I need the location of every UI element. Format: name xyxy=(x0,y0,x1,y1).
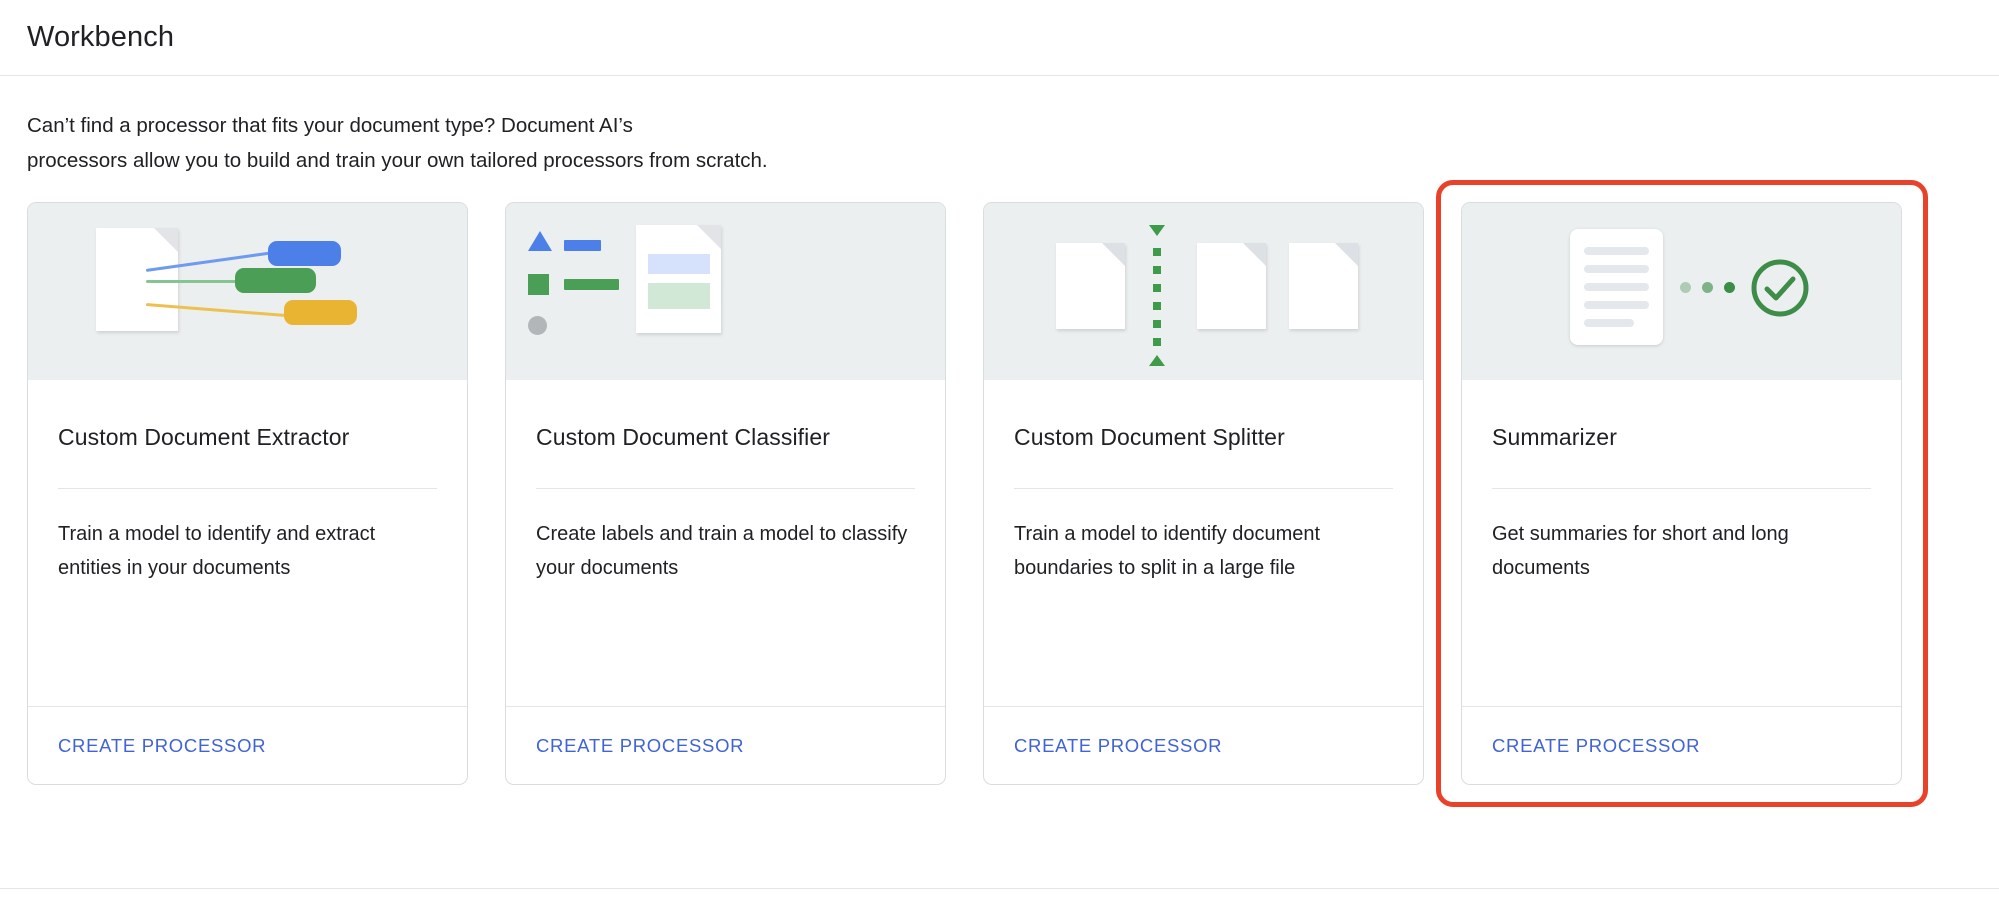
page-title: Workbench xyxy=(27,21,174,54)
progress-dot xyxy=(1724,282,1735,293)
split-dot xyxy=(1153,284,1161,292)
label-square-green-icon xyxy=(528,274,549,295)
document-icon xyxy=(1289,243,1358,329)
processor-card-summarizer[interactable]: Summarizer Get summaries for short and l… xyxy=(1461,202,1902,785)
card-media-summarizer xyxy=(1462,203,1901,380)
label-bar-blue-icon xyxy=(564,240,601,251)
summary-text-line xyxy=(1584,247,1649,255)
label-triangle-blue-icon xyxy=(528,231,552,251)
classified-block-blue xyxy=(648,254,710,274)
classified-block-green xyxy=(648,283,710,309)
create-processor-button[interactable]: CREATE PROCESSOR xyxy=(1492,735,1700,757)
entity-pill-yellow xyxy=(284,300,357,325)
classified-document-icon xyxy=(636,225,721,333)
card-media-splitter xyxy=(984,203,1423,380)
card-footer-splitter: CREATE PROCESSOR xyxy=(984,706,1423,784)
processor-card-custom-document-splitter[interactable]: Custom Document Splitter Train a model t… xyxy=(983,202,1424,785)
create-processor-button[interactable]: CREATE PROCESSOR xyxy=(58,735,266,757)
check-circle-icon xyxy=(1749,257,1811,319)
card-title: Custom Document Classifier xyxy=(536,380,915,451)
intro-line-2: processors allow you to build and train … xyxy=(27,143,907,178)
progress-dot xyxy=(1680,282,1691,293)
intro-paragraph: Can’t find a processor that fits your do… xyxy=(27,108,907,178)
processor-card-custom-document-extractor[interactable]: Custom Document Extractor Train a model … xyxy=(27,202,468,785)
card-description: Train a model to identify and extract en… xyxy=(58,489,437,585)
card-title: Custom Document Splitter xyxy=(1014,380,1393,451)
document-icon xyxy=(1056,243,1125,329)
card-description: Create labels and train a model to class… xyxy=(536,489,915,585)
card-description: Train a model to identify document bound… xyxy=(1014,489,1393,585)
card-body-classifier: Custom Document Classifier Create labels… xyxy=(506,380,945,706)
summary-text-line xyxy=(1584,301,1649,309)
split-dot xyxy=(1153,320,1161,328)
summary-text-line xyxy=(1584,283,1649,291)
entity-pill-green xyxy=(235,268,316,293)
summary-text-line xyxy=(1584,319,1634,327)
card-body-summarizer: Summarizer Get summaries for short and l… xyxy=(1462,380,1901,706)
summary-text-line xyxy=(1584,265,1649,273)
label-bar-green-icon xyxy=(564,279,619,290)
page-bottom-divider xyxy=(0,888,1999,889)
create-processor-button[interactable]: CREATE PROCESSOR xyxy=(536,735,744,757)
card-footer-summarizer: CREATE PROCESSOR xyxy=(1462,706,1901,784)
create-processor-button[interactable]: CREATE PROCESSOR xyxy=(1014,735,1222,757)
card-title: Summarizer xyxy=(1492,380,1871,451)
split-dot xyxy=(1153,302,1161,310)
processor-card-custom-document-classifier[interactable]: Custom Document Classifier Create labels… xyxy=(505,202,946,785)
page-header: Workbench xyxy=(0,0,1999,76)
progress-dot xyxy=(1702,282,1713,293)
card-media-classifier xyxy=(506,203,945,380)
card-body-extractor: Custom Document Extractor Train a model … xyxy=(28,380,467,706)
entity-pill-blue xyxy=(268,241,341,266)
workbench-page: Workbench Can’t find a processor that fi… xyxy=(0,0,1999,917)
split-dot xyxy=(1153,338,1161,346)
card-footer-extractor: CREATE PROCESSOR xyxy=(28,706,467,784)
split-dot xyxy=(1153,248,1161,256)
document-icon xyxy=(1197,243,1266,329)
card-media-extractor xyxy=(28,203,467,380)
card-footer-classifier: CREATE PROCESSOR xyxy=(506,706,945,784)
split-dot xyxy=(1153,266,1161,274)
processor-card-grid: Custom Document Extractor Train a model … xyxy=(27,202,1999,785)
split-arrow-down-icon xyxy=(1149,225,1165,236)
label-circle-gray-icon xyxy=(528,316,547,335)
card-body-splitter: Custom Document Splitter Train a model t… xyxy=(984,380,1423,706)
intro-line-1: Can’t find a processor that fits your do… xyxy=(27,108,907,143)
card-description: Get summaries for short and long documen… xyxy=(1492,489,1871,585)
card-title: Custom Document Extractor xyxy=(58,380,437,451)
split-arrow-up-icon xyxy=(1149,355,1165,366)
